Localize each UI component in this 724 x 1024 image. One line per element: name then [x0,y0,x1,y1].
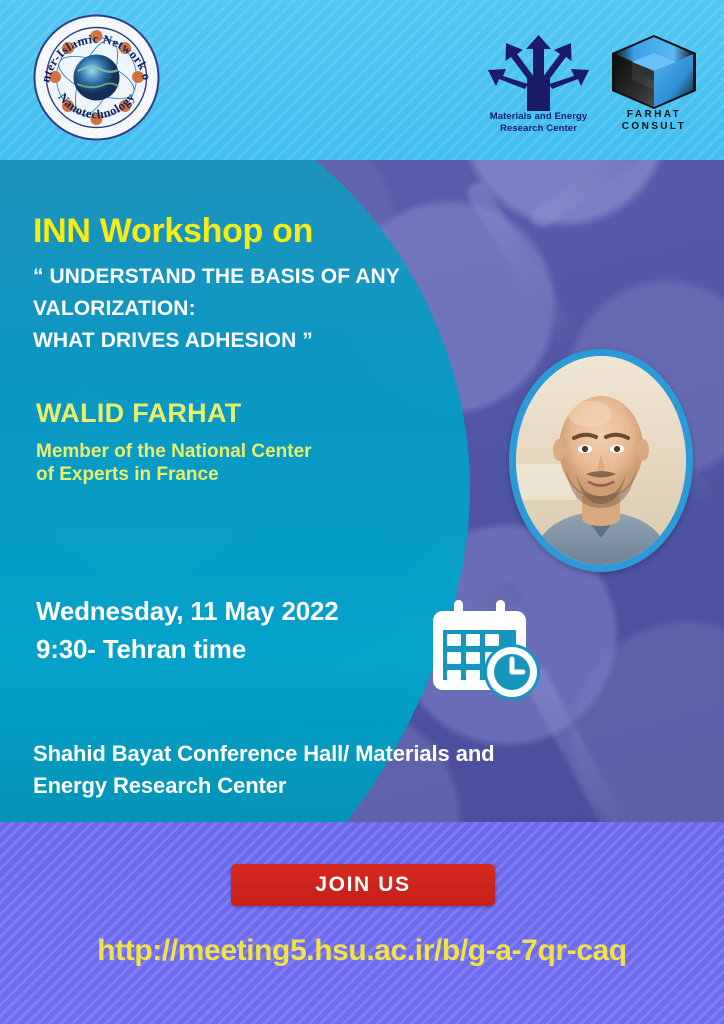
workshop-subtitle-line1: “ UNDERSTAND THE BASIS OF ANY VALORIZATI… [33,261,463,325]
speaker-role: Member of the National Center of Experts… [36,440,436,486]
farhat-logo: FARHAT CONSULT [596,33,712,133]
speaker-role-line2: of Experts in France [36,463,436,486]
workshop-subtitle-line2: WHAT DRIVES ADHESION ” [33,325,463,357]
workshop-subtitle: “ UNDERSTAND THE BASIS OF ANY VALORIZATI… [33,261,463,357]
poster-header: Inter-Islamic Network on Nanotechnology [0,0,724,160]
event-venue: Shahid Bayat Conference Hall/ Materials … [33,738,633,802]
merc-tree-icon [487,33,590,111]
venue-line1: Shahid Bayat Conference Hall/ Materials … [33,738,633,770]
speaker-role-line1: Member of the National Center [36,440,436,463]
event-time: 9:30- Tehran time [36,634,246,665]
event-date: Wednesday, 11 May 2022 [36,596,338,627]
merc-caption-line2: Research Center [487,123,590,135]
farhat-cube-icon [596,33,712,111]
merc-caption: Materials and Energy Research Center [487,111,590,134]
meeting-url[interactable]: http://meeting5.hsu.ac.ir/b/g-a-7qr-caq [0,934,724,968]
speaker-name: WALID FARHAT [36,398,242,429]
event-poster: Inter-Islamic Network on Nanotechnology [0,0,724,1024]
farhat-caption: FARHAT CONSULT [596,109,712,132]
inn-logo: Inter-Islamic Network on Nanotechnology [33,14,160,141]
poster-footer [0,822,724,1024]
merc-caption-line1: Materials and Energy [487,111,590,123]
speaker-portrait-illustration [516,356,686,565]
join-us-button[interactable]: JOIN US [231,864,495,906]
merc-logo: Materials and Energy Research Center [487,33,590,138]
venue-line2: Energy Research Center [33,770,633,802]
workshop-title: INN Workshop on [33,212,313,251]
calendar-clock-icon [430,600,546,700]
speaker-photo [509,349,693,572]
